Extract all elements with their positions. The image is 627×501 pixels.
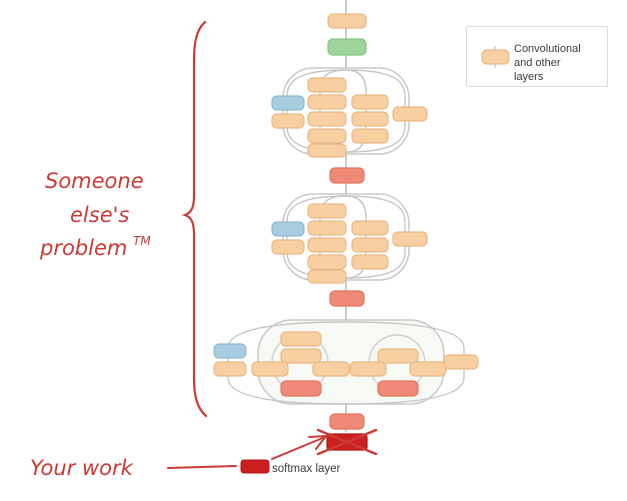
bracket-label-line2: else's xyxy=(70,203,129,227)
your-work-label: Your work xyxy=(30,456,134,480)
bracket-label-line3: problem xyxy=(39,236,127,260)
softmax-layer-label: softmax layer xyxy=(272,463,340,475)
annotation-layer: Someone else's problem TM Your work xyxy=(0,0,627,501)
bracket-label-tm: TM xyxy=(133,234,151,248)
softmax-key-box xyxy=(241,460,269,473)
your-work-pointer xyxy=(168,466,236,468)
diagram-canvas: .wire{stroke:#bdbdbd;stroke-width:1.6;fi… xyxy=(0,0,627,501)
softmax-arrow xyxy=(272,436,326,459)
bracket-label-line1: Someone xyxy=(45,169,144,193)
scope-bracket xyxy=(185,22,206,416)
